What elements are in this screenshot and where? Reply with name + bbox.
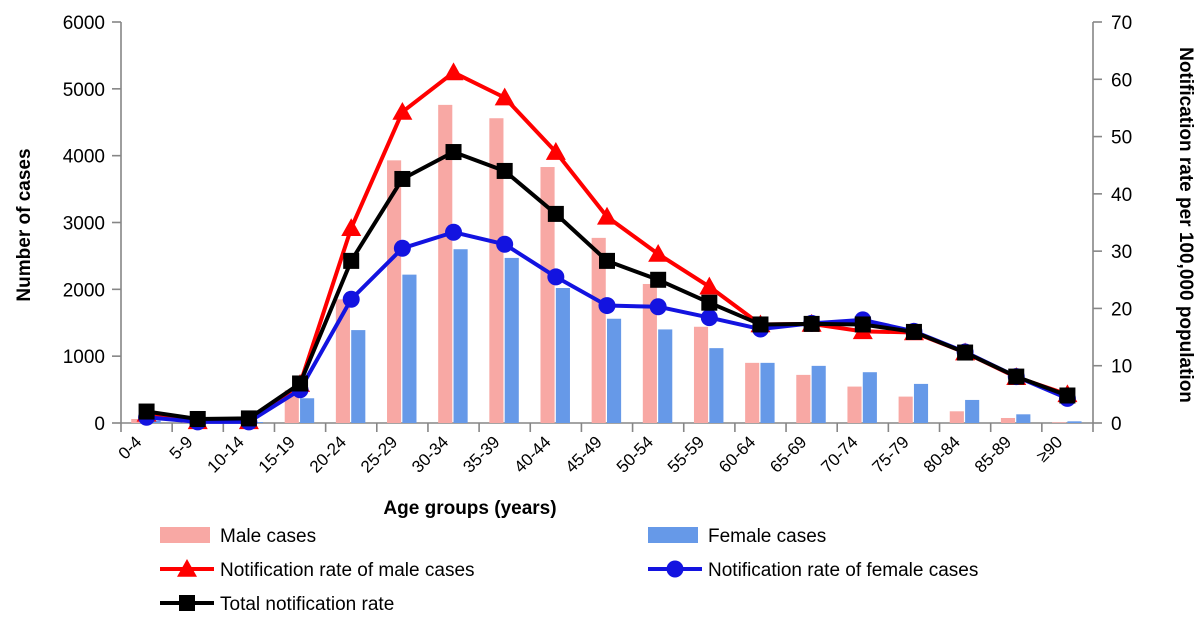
bar <box>709 348 723 423</box>
data-point-marker <box>650 272 666 288</box>
data-point-marker <box>446 144 462 160</box>
left-tick-label: 6000 <box>63 13 105 34</box>
data-point-marker <box>445 224 462 241</box>
bar <box>556 288 570 423</box>
bar <box>899 397 913 423</box>
bar <box>1016 414 1030 423</box>
data-point-marker <box>241 410 257 426</box>
bar <box>1052 422 1066 423</box>
bar <box>658 329 672 423</box>
chart-figure: 0100020003000400050006000 01020304050607… <box>0 0 1200 632</box>
data-point-marker <box>548 206 564 222</box>
right-tick-label: 30 <box>1111 242 1132 263</box>
right-tick-label: 60 <box>1111 70 1132 91</box>
bar <box>402 275 416 423</box>
left-tick-label: 1000 <box>63 347 105 368</box>
bar <box>796 375 810 423</box>
data-point-marker <box>394 171 410 187</box>
data-point-marker <box>855 316 871 332</box>
bar <box>914 384 928 423</box>
left-axis-title: Number of cases <box>14 148 35 301</box>
right-tick-label: 70 <box>1111 13 1132 34</box>
legend-label: Male cases <box>220 526 316 547</box>
data-point-marker <box>599 253 615 269</box>
bar <box>950 411 964 423</box>
bar <box>863 372 877 423</box>
legend-swatch <box>648 527 698 543</box>
data-point-marker <box>343 253 359 269</box>
bar <box>351 330 365 423</box>
data-point-marker <box>547 268 564 285</box>
left-tick-label: 3000 <box>63 214 105 235</box>
data-point-marker <box>906 324 922 340</box>
legend-label: Total notification rate <box>220 594 394 615</box>
bar <box>812 366 826 423</box>
right-tick-label: 40 <box>1111 185 1132 206</box>
data-point-marker <box>497 163 513 179</box>
bar <box>607 319 621 423</box>
left-tick-label: 2000 <box>63 280 105 301</box>
data-point-marker <box>599 297 616 314</box>
data-point-marker <box>804 316 820 332</box>
data-point-marker <box>139 404 155 420</box>
data-point-marker <box>701 309 718 326</box>
age-distribution-dual-axis-chart: 0100020003000400050006000 01020304050607… <box>0 0 1200 632</box>
data-point-marker <box>701 295 717 311</box>
right-tick-label: 10 <box>1111 357 1132 378</box>
data-point-marker <box>190 411 206 427</box>
left-tick-label: 0 <box>94 414 105 435</box>
bar <box>965 400 979 423</box>
bar <box>300 398 314 423</box>
bar <box>745 363 759 423</box>
bar <box>454 249 468 423</box>
bar <box>847 387 861 423</box>
data-point-marker <box>957 345 973 361</box>
data-point-marker <box>1059 388 1075 404</box>
x-axis-title: Age groups (years) <box>383 498 556 519</box>
right-tick-label: 0 <box>1111 414 1122 435</box>
legend-swatch <box>160 527 210 543</box>
bar <box>694 327 708 423</box>
data-point-marker <box>667 561 684 578</box>
right-tick-label: 50 <box>1111 128 1132 149</box>
data-point-marker <box>292 375 308 391</box>
data-point-marker <box>1008 369 1024 385</box>
data-point-marker <box>650 298 667 315</box>
legend-label: Female cases <box>708 526 826 547</box>
data-point-marker <box>179 595 195 611</box>
legend-label: Notification rate of male cases <box>220 560 475 581</box>
left-tick-label: 4000 <box>63 147 105 168</box>
data-point-marker <box>343 291 360 308</box>
data-point-marker <box>394 240 411 257</box>
data-point-marker <box>752 316 768 332</box>
right-tick-label: 20 <box>1111 299 1132 320</box>
legend-label: Notification rate of female cases <box>708 560 978 581</box>
bar <box>760 363 774 423</box>
bar <box>1001 418 1015 423</box>
bar <box>505 258 519 423</box>
data-point-marker <box>496 236 513 253</box>
left-tick-label: 5000 <box>63 80 105 101</box>
bar <box>1067 421 1081 423</box>
right-axis-title: Notification rate per 100,000 population <box>1175 47 1196 403</box>
